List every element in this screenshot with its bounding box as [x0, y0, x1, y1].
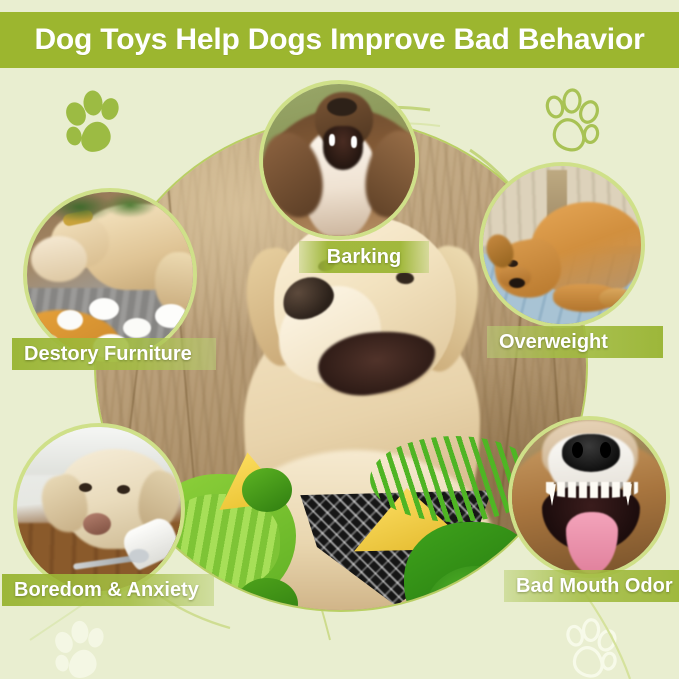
label-overweight: Overweight: [487, 326, 663, 358]
infographic-canvas: Dog Toys Help Dogs Improve Bad Behavior: [0, 0, 679, 679]
bubble-photo-bad-mouth-odor[interactable]: [512, 420, 666, 574]
label-boredom-anxiety-text: Boredom & Anxiety: [14, 579, 199, 602]
label-overweight-text: Overweight: [499, 331, 608, 354]
label-bad-mouth-odor-text: Bad Mouth Odor: [516, 575, 673, 598]
bubble-photo-barking[interactable]: [263, 84, 415, 236]
label-boredom-anxiety: Boredom & Anxiety: [2, 574, 214, 606]
label-destroy-furniture: Destory Furniture: [12, 338, 216, 370]
header-banner: Dog Toys Help Dogs Improve Bad Behavior: [0, 12, 679, 68]
bubble-photo-boredom-anxiety[interactable]: [17, 427, 181, 591]
label-destroy-furniture-text: Destory Furniture: [24, 343, 192, 366]
bubble-photo-destroy-furniture[interactable]: [27, 192, 193, 358]
label-barking-text: Barking: [327, 246, 401, 269]
page-title: Dog Toys Help Dogs Improve Bad Behavior: [34, 23, 644, 57]
label-bad-mouth-odor: Bad Mouth Odor: [504, 570, 679, 602]
paw-bottom-right-icon: [563, 616, 621, 678]
label-barking: Barking: [299, 241, 429, 273]
paw-bottom-left-icon: [50, 618, 108, 679]
bubble-photo-overweight[interactable]: [483, 166, 641, 324]
